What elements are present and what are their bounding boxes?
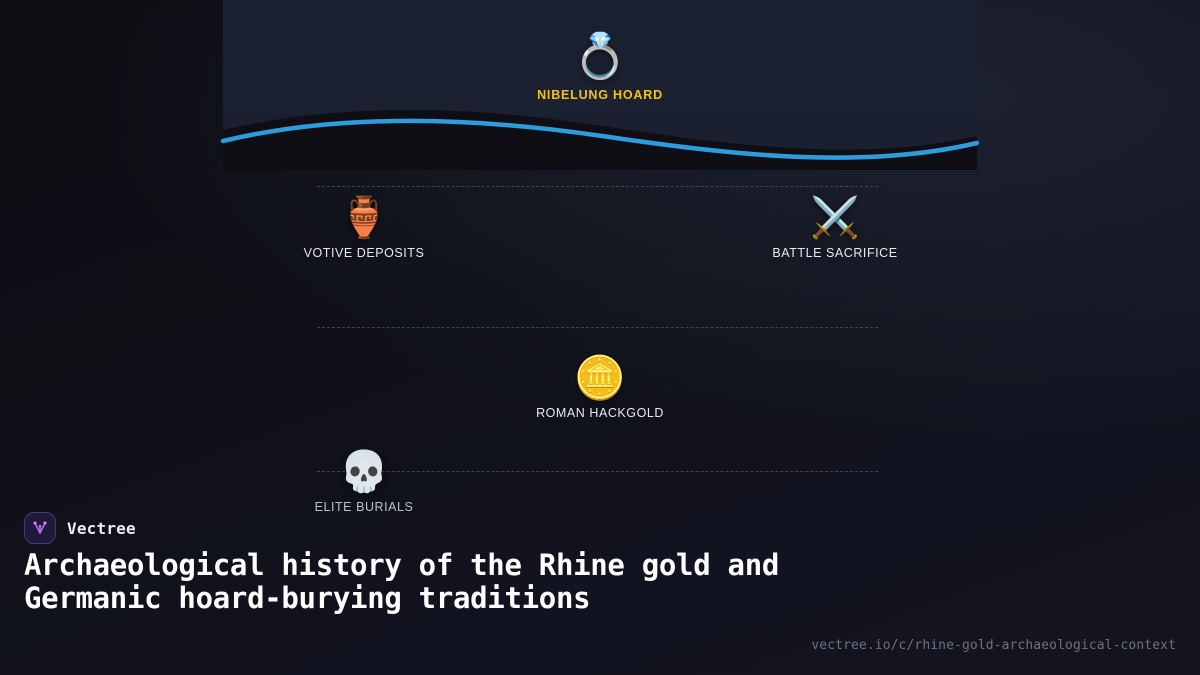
gold-coin-icon: 🪙 <box>574 356 626 400</box>
skull-icon: 💀 <box>339 450 389 494</box>
node-elite-burials[interactable]: 💀 ELITE BURIALS <box>264 450 464 514</box>
brand-name: Vectree <box>67 519 136 538</box>
node-label-elite-burials: ELITE BURIALS <box>315 500 414 514</box>
node-label-roman-hackgold: ROMAN HACKGOLD <box>536 406 664 420</box>
amphora-icon: 🏺 <box>339 196 389 240</box>
slide-canvas: 💍 NIBELUNG HOARD 🏺 VOTIVE DEPOSITS ⚔️ BA… <box>0 0 1200 675</box>
node-nibelung-hoard[interactable]: 💍 NIBELUNG HOARD <box>500 34 700 102</box>
node-label-nibelung-hoard: NIBELUNG HOARD <box>537 88 663 102</box>
dashed-connector-row-1 <box>317 186 878 187</box>
vectree-logo-icon <box>24 512 56 544</box>
brand-row[interactable]: Vectree <box>24 512 136 544</box>
node-label-battle-sacrifice: BATTLE SACRIFICE <box>772 246 897 260</box>
node-votive-deposits[interactable]: 🏺 VOTIVE DEPOSITS <box>264 196 464 260</box>
node-battle-sacrifice[interactable]: ⚔️ BATTLE SACRIFICE <box>735 196 935 260</box>
crossed-swords-icon: ⚔️ <box>810 196 860 240</box>
ring-icon: 💍 <box>573 34 628 80</box>
dashed-connector-row-2 <box>317 327 878 328</box>
node-roman-hackgold[interactable]: 🪙 ROMAN HACKGOLD <box>500 356 700 420</box>
source-url: vectree.io/c/rhine-gold-archaeological-c… <box>811 638 1176 653</box>
node-label-votive-deposits: VOTIVE DEPOSITS <box>304 246 425 260</box>
page-title: Archaeological history of the Rhine gold… <box>24 549 844 615</box>
hero-panel-wave-mask <box>223 100 977 170</box>
